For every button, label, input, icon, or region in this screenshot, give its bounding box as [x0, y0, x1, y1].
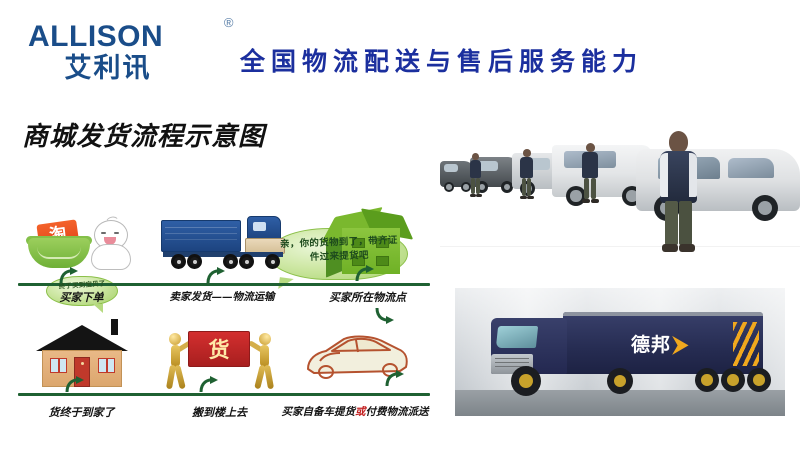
trailer-top-rail	[563, 312, 763, 316]
bottom-white-band	[0, 418, 800, 450]
flow-arrow-icon	[384, 369, 406, 387]
baby-mascot-icon	[86, 220, 138, 272]
fleet-staff-member	[518, 149, 534, 201]
flow-step-6-caption: 买家自备车提货或付费物流派送	[250, 404, 460, 419]
header: ALLISON ® 艾利讯 全国物流配送与售后服务能力	[0, 0, 800, 100]
flow-arrow-icon	[374, 307, 396, 325]
basket-bowl	[28, 238, 90, 268]
logo-wordmark: ALLISON ®	[28, 22, 218, 52]
truck-wheel	[187, 254, 202, 269]
slide-root: ALLISON ® 艾利讯 全国物流配送与售后服务能力 商城发货流程示意图 亲，…	[0, 0, 800, 450]
flow-step-6: 买家自备车提货或付费物流派送	[288, 305, 423, 410]
goods-crate: 货	[188, 331, 250, 367]
fleet-staff-member	[580, 143, 600, 205]
deppon-truck-photo: 德邦⮞	[455, 288, 785, 416]
truck-trailer: 德邦⮞	[563, 312, 763, 374]
flow-step-6-caption-part2: 付费物流派送	[366, 406, 429, 418]
two-porters: 货	[158, 325, 282, 389]
deppon-brand-logo: 德邦⮞	[631, 330, 689, 357]
fleet-staff-member-foreground	[658, 131, 698, 259]
house-window	[50, 358, 67, 373]
flow-step-2-caption: 卖家发货——物流运输	[127, 289, 317, 304]
registered-trademark-icon: ®	[224, 16, 234, 29]
flow-step-5: 货 搬到楼上去	[152, 305, 287, 410]
flow-row-bottom: 货终于到家了 货	[0, 305, 445, 410]
flow-arrow-icon	[205, 266, 227, 284]
flow-arrow-icon	[354, 264, 376, 282]
truck-wheel	[721, 368, 745, 392]
logo-chinese-name: 艾利讯	[28, 54, 188, 84]
truck-wheel	[511, 366, 541, 396]
truck-wheel	[747, 368, 771, 392]
deppon-arrow-icon: ⮞	[673, 332, 689, 356]
deppon-brand-text: 德邦	[631, 334, 671, 356]
truck-wheel	[239, 254, 254, 269]
flow-diagram-title: 商城发货流程示意图	[22, 116, 265, 153]
shopping-basket-icon: 淘	[28, 222, 90, 268]
page-title: 全国物流配送与售后服务能力	[240, 42, 780, 78]
baby-eye-right	[114, 232, 119, 234]
vehicle-fleet-photo	[440, 105, 800, 265]
baby-eye-left	[101, 232, 106, 234]
flow-arrow-icon	[198, 375, 220, 393]
shipping-flow-diagram: 商城发货流程示意图 亲，你的货物到了，带齐证件过来提货吧 终于买到宝贝了 淘	[0, 100, 445, 450]
flow-step-6-caption-or: 或	[355, 406, 366, 418]
fleet-ground-line	[440, 246, 800, 247]
taobao-basket-icon: 淘	[14, 190, 149, 278]
truck-wheel	[607, 368, 633, 394]
truck-trailer	[161, 220, 241, 252]
house-roof	[36, 325, 128, 351]
truck-wheel	[695, 368, 719, 392]
flow-step-6-caption-part1: 买家自备车提货	[282, 406, 356, 418]
cab-windshield	[496, 326, 538, 348]
brand-logo: ALLISON ® 艾利讯	[28, 22, 218, 84]
flow-step-3-caption: 买家所在物流点	[300, 289, 435, 305]
baby-body	[91, 244, 131, 270]
house-window	[98, 358, 115, 373]
logo-wordmark-text: ALLISON	[28, 20, 163, 53]
delivery-notice-text: 亲，你的货物到了，带齐证件过来提货吧	[268, 227, 407, 267]
fleet-staff-member	[468, 153, 482, 199]
truck-window	[253, 222, 266, 231]
truck-wheel	[171, 254, 186, 269]
flow-arrow-icon	[58, 266, 80, 284]
flow-arrow-icon	[64, 375, 86, 393]
flow-step-4: 货终于到家了	[14, 305, 149, 410]
trailer-hazard-stripes	[733, 322, 759, 366]
porter-figure	[248, 333, 280, 389]
